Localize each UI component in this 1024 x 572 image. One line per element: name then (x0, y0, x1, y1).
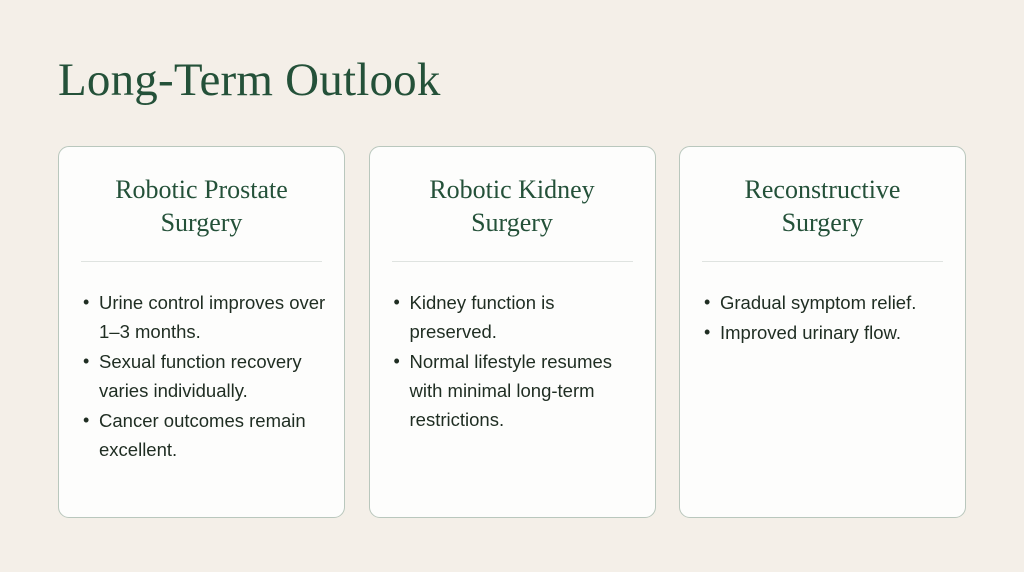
card-title: Robotic Kidney Surgery (388, 173, 637, 239)
card-bullet-list: • Urine control improves over 1–3 months… (77, 262, 326, 499)
list-item-text: Gradual symptom relief. (720, 292, 916, 313)
card-group: Robotic Prostate Surgery • Urine control… (58, 146, 966, 518)
bullet-icon: • (704, 288, 710, 317)
bullet-icon: • (394, 347, 400, 376)
card-reconstructive-surgery: Reconstructive Surgery • Gradual symptom… (679, 146, 966, 518)
bullet-icon: • (83, 406, 89, 435)
card-bullet-list: • Kidney function is preserved. • Normal… (388, 262, 637, 499)
card-robotic-prostate-surgery: Robotic Prostate Surgery • Urine control… (58, 146, 345, 518)
list-item: • Sexual function recovery varies indivi… (77, 347, 326, 405)
list-item-text: Cancer outcomes remain excellent. (99, 410, 306, 460)
list-item: • Cancer outcomes remain excellent. (77, 406, 326, 464)
bullet-icon: • (83, 347, 89, 376)
list-item: • Gradual symptom relief. (698, 288, 947, 317)
list-item-text: Sexual function recovery varies individu… (99, 351, 302, 401)
page-title: Long-Term Outlook (58, 51, 441, 109)
bullet-icon: • (704, 318, 710, 347)
card-bullet-list: • Gradual symptom relief. • Improved uri… (698, 262, 947, 499)
list-item-text: Normal lifestyle resumes with minimal lo… (410, 351, 613, 430)
card-title: Robotic Prostate Surgery (77, 173, 326, 239)
list-item: • Normal lifestyle resumes with minimal … (388, 347, 637, 434)
bullet-icon: • (394, 288, 400, 317)
list-item-text: Urine control improves over 1–3 months. (99, 292, 325, 342)
list-item: • Urine control improves over 1–3 months… (77, 288, 326, 346)
bullet-icon: • (83, 288, 89, 317)
slide: Long-Term Outlook Robotic Prostate Surge… (0, 0, 1024, 572)
list-item-text: Kidney function is preserved. (410, 292, 555, 342)
list-item: • Improved urinary flow. (698, 318, 947, 347)
card-robotic-kidney-surgery: Robotic Kidney Surgery • Kidney function… (369, 146, 656, 518)
list-item: • Kidney function is preserved. (388, 288, 637, 346)
list-item-text: Improved urinary flow. (720, 322, 901, 343)
card-title: Reconstructive Surgery (698, 173, 947, 239)
